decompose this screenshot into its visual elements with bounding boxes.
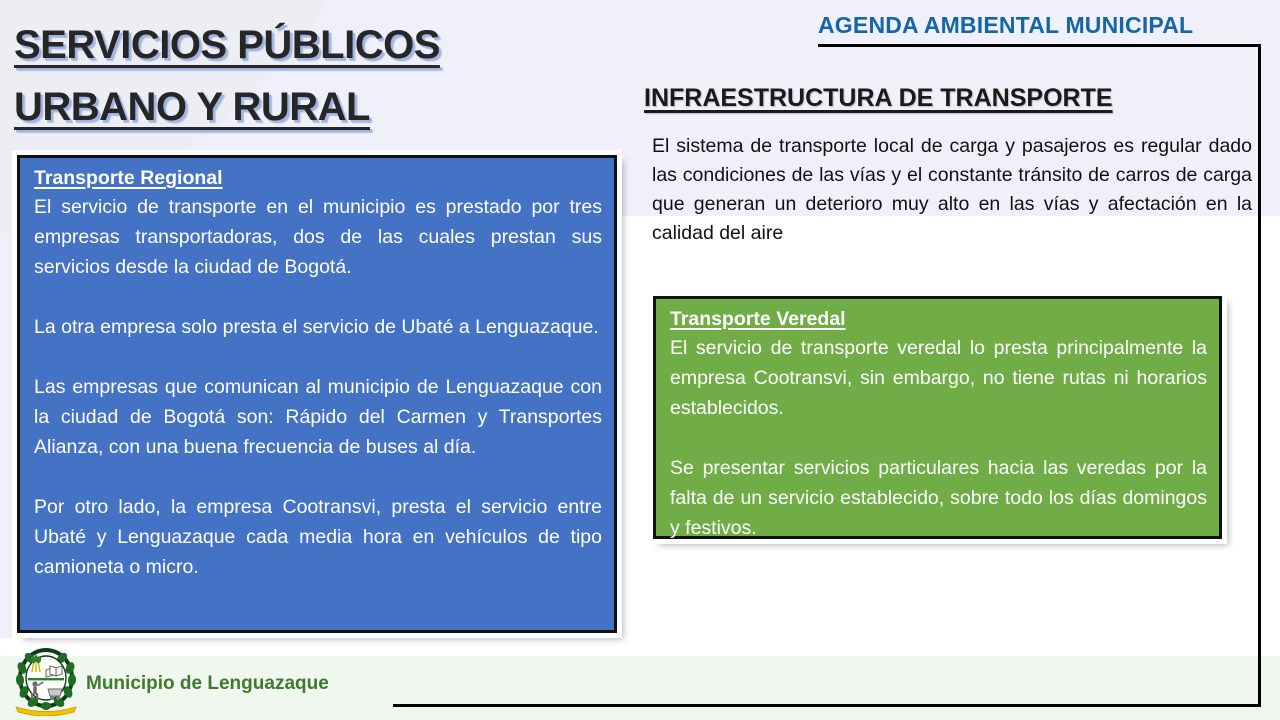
spacer (670, 423, 1207, 453)
intro-paragraph: El sistema de transporte local de carga … (652, 132, 1252, 248)
transporte-regional-heading: Transporte Regional (34, 166, 602, 191)
frame-border-bottom (393, 704, 1261, 707)
transporte-veredal-heading: Transporte Veredal (670, 307, 1207, 332)
transporte-regional-box: Transporte Regional El servicio de trans… (17, 155, 617, 633)
page-title-line-1: SERVICIOS PÚBLICOS (14, 14, 604, 76)
spacer (34, 282, 602, 312)
background-panel-left (0, 638, 618, 658)
transporte-veredal-paragraph-2: Se presentar servicios particulares haci… (670, 453, 1207, 543)
transporte-regional-box-content: Transporte Regional El servicio de trans… (20, 158, 614, 588)
transporte-regional-paragraph-4: Por otro lado, la empresa Cootransvi, pr… (34, 492, 602, 582)
slide-canvas: SERVICIOS PÚBLICOS URBANO Y RURAL AGENDA… (0, 0, 1280, 720)
footer-label: Municipio de Lenguazaque (86, 673, 329, 695)
spacer (34, 342, 602, 372)
transporte-veredal-box-content: Transporte Veredal El servicio de transp… (656, 299, 1219, 549)
page-title: SERVICIOS PÚBLICOS URBANO Y RURAL (14, 14, 604, 138)
transporte-veredal-box: Transporte Veredal El servicio de transp… (653, 296, 1222, 539)
transporte-regional-paragraph-2: La otra empresa solo presta el servicio … (34, 312, 602, 342)
spacer (34, 462, 602, 492)
transporte-regional-paragraph-1: El servicio de transporte en el municipi… (34, 192, 602, 282)
header-title: AGENDA AMBIENTAL MUNICIPAL (818, 12, 1193, 39)
page-title-line-2: URBANO Y RURAL (14, 76, 604, 138)
municipal-coat-of-arms-icon (12, 646, 80, 716)
transporte-veredal-paragraph-1: El servicio de transporte veredal lo pre… (670, 333, 1207, 423)
section-heading: INFRAESTRUCTURA DE TRANSPORTE (644, 84, 1113, 113)
transporte-regional-paragraph-3: Las empresas que comunican al municipio … (34, 372, 602, 462)
header-divider (818, 44, 1261, 47)
frame-border-right (1258, 44, 1261, 707)
